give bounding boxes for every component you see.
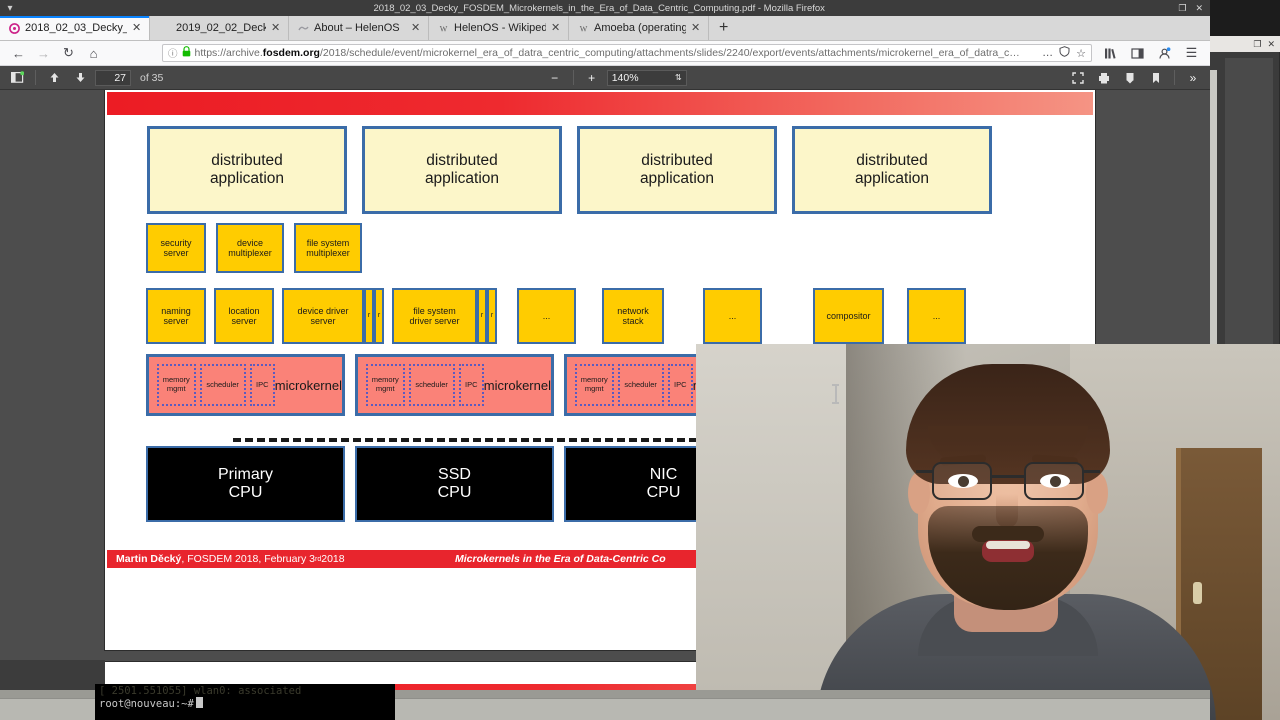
microkernel-box[interactable]: memorymgmt scheduler IPC microkernel	[355, 354, 554, 416]
next-page-icon[interactable]	[69, 68, 91, 88]
box-line-1: compositor	[826, 311, 870, 321]
helenos-favicon	[297, 22, 309, 34]
terminal-prompt-line: root@nouveau:~#	[99, 697, 391, 710]
ipc-block: IPC	[668, 364, 693, 406]
box-line-2: application	[210, 170, 284, 188]
glasses-temple-left	[916, 470, 934, 473]
memory-mgmt-block: memorymgmt	[157, 364, 196, 406]
zoom-level-select[interactable]: 140% ⇅	[607, 70, 687, 86]
box-line-2: server	[297, 316, 348, 326]
box-line-2: CPU	[647, 484, 681, 502]
box-line-2: driver server	[409, 316, 459, 326]
app-menu-icon[interactable]: ☰	[1179, 41, 1204, 66]
box-line-1: ...	[543, 311, 551, 321]
svg-text:W: W	[439, 24, 447, 33]
file-system-driver-server-stack-1[interactable]: r	[477, 288, 487, 344]
device-multiplexer-box[interactable]: devicemultiplexer	[216, 223, 284, 273]
box-line-1: file system	[409, 306, 459, 316]
box-line-1: ...	[729, 311, 737, 321]
memory-mgmt-block: memorymgmt	[575, 364, 614, 406]
pdf-toolbar: 27 of 35 − + 140% ⇅ »	[0, 66, 1210, 90]
toolbar-divider	[573, 70, 574, 85]
tab-close-icon[interactable]: ✕	[411, 23, 421, 34]
webcam-person-teeth	[986, 541, 1030, 549]
bookmark-star-icon[interactable]: ☆	[1076, 47, 1086, 60]
glasses-bridge	[992, 475, 1024, 478]
terminal-log-line: [ 2501.551055] wlan0: associated	[99, 685, 391, 697]
url-text: https://archive.fosdem.org/2018/schedule…	[195, 47, 1039, 59]
footer-talk-title: Microkernels in the Era of Data-Centric …	[455, 553, 666, 565]
box-line-1: file system	[306, 238, 350, 248]
ssd-cpu-box[interactable]: SSDCPU	[355, 446, 554, 522]
tab-close-icon[interactable]: ✕	[271, 23, 281, 34]
box-line-1: distributed	[640, 152, 714, 170]
terminal-cursor	[196, 697, 203, 708]
server-row: namingserver locationserver device drive…	[146, 288, 966, 344]
distributed-application-box[interactable]: distributedapplication	[577, 126, 777, 214]
box-line-1: ...	[933, 311, 941, 321]
zoom-out-button[interactable]: −	[544, 68, 566, 88]
box-line-2: server	[161, 316, 191, 326]
window-title: 2018_02_03_Decky_FOSDEM_Microkernels_in_…	[20, 3, 1178, 14]
box-line-1: distributed	[210, 152, 284, 170]
footer-event: , FOSDEM 2018, February 3	[181, 553, 315, 565]
box-line-1: location	[228, 306, 259, 316]
screen: ❐ ✕ ▾ 2018_02_03_Decky_FOSDEM_Microkerne…	[0, 0, 1280, 720]
box-line-1: network	[617, 306, 649, 316]
device-driver-server-stack-2[interactable]: r	[374, 288, 384, 344]
webcam-wall-left	[696, 344, 846, 720]
lock-icon	[182, 46, 191, 60]
background-window-titlebar[interactable]: ❐ ✕	[1208, 36, 1280, 52]
toolbar-divider	[35, 70, 36, 85]
cpu-row: PrimaryCPU SSDCPU NICCPU	[146, 446, 763, 522]
window-menu-icon[interactable]: ▾	[0, 3, 20, 14]
block-line-1: scheduler	[624, 381, 657, 390]
download-icon[interactable]	[1119, 68, 1141, 88]
device-driver-server-box[interactable]: device driverserver	[282, 288, 364, 344]
zoom-in-button[interactable]: +	[581, 68, 603, 88]
glasses-lens-left	[932, 462, 992, 500]
scheduler-block: scheduler	[618, 364, 664, 406]
distributed-application-box[interactable]: distributedapplication	[792, 126, 992, 214]
block-line-1: IPC	[256, 381, 269, 390]
bookmark-icon[interactable]	[1145, 68, 1167, 88]
browser-tab-4[interactable]: W HelenOS - Wikipedia ✕	[429, 16, 569, 40]
block-line-2: mgmt	[372, 385, 399, 394]
block-line-2: mgmt	[581, 385, 608, 394]
compositor-box[interactable]: compositor	[813, 288, 884, 344]
background-close-icon[interactable]: ✕	[1267, 39, 1275, 50]
scheduler-block: scheduler	[409, 364, 455, 406]
reload-icon[interactable]: ↻	[56, 41, 81, 66]
tab-close-icon[interactable]: ✕	[551, 23, 561, 34]
pdf-favicon	[8, 22, 20, 34]
box-line-2: multiplexer	[306, 248, 350, 258]
background-restore-icon[interactable]: ❐	[1253, 39, 1261, 50]
wikipedia-favicon: W	[577, 22, 589, 34]
box-line-2: server	[160, 248, 191, 258]
address-bar[interactable]: ⓘ https://archive.fosdem.org/2018/schedu…	[162, 44, 1092, 62]
terminal-prompt: root@nouveau:~#	[99, 698, 194, 710]
ellipsis-server-box-1[interactable]: ...	[517, 288, 576, 344]
distributed-application-box[interactable]: distributedapplication	[147, 126, 347, 214]
box-line-2: stack	[617, 316, 649, 326]
new-tab-button[interactable]: +	[709, 16, 738, 40]
browser-tab-1[interactable]: 2018_02_03_Decky_FOSI ✕	[0, 16, 150, 40]
glasses-temple-right	[1082, 470, 1100, 473]
box-line-1: distributed	[855, 152, 929, 170]
previous-page-icon[interactable]	[43, 68, 65, 88]
window-close-icon[interactable]: ✕	[1195, 3, 1203, 14]
browser-tab-label: 2019_02_02_Decky_Harс	[158, 22, 266, 34]
microkernel-box[interactable]: memorymgmt scheduler IPC microkernel	[146, 354, 345, 416]
box-line-1: Primary	[218, 466, 273, 484]
home-icon[interactable]: ⌂	[81, 41, 106, 66]
browser-tab-5[interactable]: W Amoeba (operating syste ✕	[569, 16, 709, 40]
file-system-driver-server-box[interactable]: file systemdriver server	[392, 288, 477, 344]
browser-tab-3[interactable]: About – HelenOS ✕	[289, 16, 429, 40]
box-line-2: CPU	[218, 484, 273, 502]
box-line-1: r	[378, 312, 380, 320]
box-line-1: r	[481, 312, 483, 320]
security-server-box[interactable]: securityserver	[146, 223, 206, 273]
box-line-1: naming	[161, 306, 191, 316]
box-line-2: application	[425, 170, 499, 188]
toolbar-divider	[1174, 70, 1175, 85]
box-line-1: NIC	[647, 466, 681, 484]
primary-cpu-box[interactable]: PrimaryCPU	[146, 446, 345, 522]
box-line-2: application	[640, 170, 714, 188]
wikipedia-favicon: W	[437, 22, 449, 34]
box-line-1: r	[368, 312, 370, 320]
window-titlebar[interactable]: ▾ 2018_02_03_Decky_FOSDEM_Microkernels_i…	[0, 0, 1210, 16]
file-system-multiplexer-box[interactable]: file systemmultiplexer	[294, 223, 362, 273]
reader-mode-icon[interactable]	[1059, 46, 1070, 60]
box-line-1: SSD	[438, 466, 472, 484]
browser-tab-2[interactable]: 2019_02_02_Decky_Harс ✕	[150, 16, 289, 40]
account-icon[interactable]	[1152, 41, 1177, 66]
browser-tab-label: 2018_02_03_Decky_FOSI	[25, 22, 127, 34]
box-line-2: server	[228, 316, 259, 326]
zoom-level-value: 140%	[612, 72, 639, 84]
browser-tab-label: About – HelenOS	[314, 22, 406, 34]
footer-author: Martin Děcký	[116, 553, 181, 565]
presentation-mode-icon[interactable]	[1067, 68, 1089, 88]
block-line-2: mgmt	[163, 385, 190, 394]
scheduler-block: scheduler	[200, 364, 246, 406]
print-icon[interactable]	[1093, 68, 1115, 88]
distributed-application-box[interactable]: distributedapplication	[362, 126, 562, 214]
chevron-down-icon: ⇅	[675, 73, 682, 82]
ellipsis-server-box-2[interactable]: ...	[703, 288, 762, 344]
memory-mgmt-block: memorymgmt	[366, 364, 405, 406]
sidebar-icon[interactable]	[1125, 41, 1150, 66]
location-server-box[interactable]: locationserver	[214, 288, 274, 344]
microkernel-label: microkernel	[484, 378, 551, 393]
page-total-label: of 35	[140, 72, 163, 84]
sidebar-toggle-icon[interactable]	[6, 68, 28, 88]
box-line-1: device driver	[297, 306, 348, 316]
glasses-lens-right	[1024, 462, 1084, 500]
browser-tab-label: Amoeba (operating syste	[594, 22, 686, 34]
block-line-1: scheduler	[415, 381, 448, 390]
secondary-tools-icon[interactable]: »	[1182, 68, 1204, 88]
microkernel-label: microkernel	[275, 378, 342, 393]
tab-strip: 2018_02_03_Decky_FOSI ✕ 2019_02_02_Decky…	[0, 16, 1210, 41]
identity-info-icon[interactable]: ⓘ	[168, 46, 178, 60]
box-line-1: distributed	[425, 152, 499, 170]
back-icon[interactable]: ←	[6, 41, 31, 66]
ipc-block: IPC	[250, 364, 275, 406]
multiplexer-row: securityserver devicemultiplexer file sy…	[146, 223, 362, 273]
microkernel-row: memorymgmt scheduler IPC microkernel mem…	[146, 354, 763, 416]
library-icon[interactable]	[1098, 41, 1123, 66]
slide-header-bar	[107, 92, 1093, 115]
page-actions-icon[interactable]: …	[1042, 47, 1053, 59]
browser-tab-label: HelenOS - Wikipedia	[454, 22, 546, 34]
footer-year: 2018	[321, 553, 344, 565]
box-line-2: CPU	[438, 484, 472, 502]
window-restore-icon[interactable]: ❐	[1178, 3, 1186, 14]
forward-icon[interactable]: →	[31, 41, 56, 66]
block-line-1: IPC	[674, 381, 687, 390]
box-line-1: r	[491, 312, 493, 320]
webcam-overlay	[696, 344, 1280, 720]
device-driver-server-stack-1[interactable]: r	[364, 288, 374, 344]
file-system-driver-server-stack-2[interactable]: r	[487, 288, 497, 344]
box-line-2: application	[855, 170, 929, 188]
desktop-left-panel	[0, 660, 105, 690]
ipc-block: IPC	[459, 364, 484, 406]
distributed-application-row: distributedapplication distributedapplic…	[147, 126, 992, 214]
box-line-2: multiplexer	[228, 248, 272, 258]
tab-close-icon[interactable]: ✕	[691, 23, 701, 34]
box-line-1: device	[228, 238, 272, 248]
network-stack-box[interactable]: networkstack	[602, 288, 664, 344]
block-line-1: IPC	[465, 381, 478, 390]
ellipsis-server-box-3[interactable]: ...	[907, 288, 966, 344]
box-line-1: security	[160, 238, 191, 248]
naming-server-box[interactable]: namingserver	[146, 288, 206, 344]
navigation-toolbar: ← → ↻ ⌂ ⓘ https://archive.fosdem.org/201…	[0, 41, 1210, 66]
svg-text:W: W	[579, 24, 587, 33]
text-cursor-icon	[832, 384, 839, 404]
webcam-door-knob	[1193, 582, 1202, 604]
terminal-window[interactable]: [ 2501.551055] wlan0: associated root@no…	[95, 684, 395, 720]
tab-close-icon[interactable]: ✕	[132, 23, 142, 34]
block-line-1: scheduler	[206, 381, 239, 390]
page-number-input[interactable]: 27	[95, 70, 131, 86]
